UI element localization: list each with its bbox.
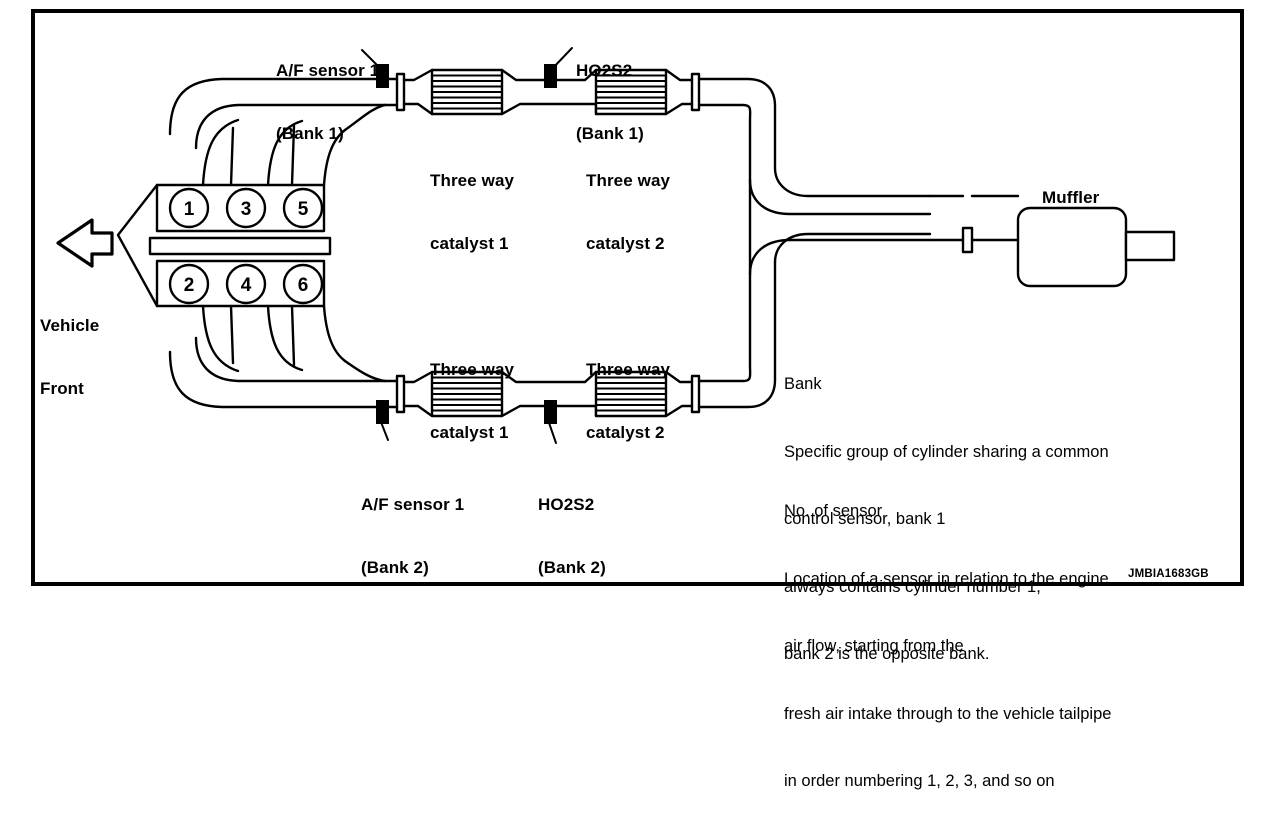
note-sensor-line4: in order numbering 1, 2, 3, and so on: [784, 770, 1111, 793]
bank1-mid-pipe-top: [502, 70, 585, 80]
af-sensor-1-bank1-line1: A/F sensor 1: [276, 60, 379, 81]
bank2-cat1-inlet-cone-upper: [404, 372, 432, 382]
vehicle-front-line1: Vehicle: [40, 315, 99, 336]
bank1-cat1-inlet-cone-lower: [404, 104, 432, 114]
ho2s2-bank1-icon[interactable]: [544, 64, 557, 88]
bank2-flange-1: [397, 376, 404, 412]
cylinder-label-1: 1: [184, 199, 195, 220]
engine-block-center: [150, 238, 330, 254]
merge-lower-inner: [750, 240, 930, 274]
ho2s2-bank1-line1: HO2S2: [576, 60, 644, 81]
cylinder-label-6: 6: [298, 275, 309, 296]
bank1-catalyst-2-label: Three way catalyst 2: [586, 128, 670, 296]
muffler-label: Muffler: [1042, 187, 1099, 208]
note-bank-heading: Bank: [784, 373, 1109, 396]
bank1-cat2-outlet-cone-lower: [666, 104, 692, 114]
manifold-runner-6: [324, 306, 345, 361]
merge-upper-outer: [775, 168, 930, 196]
note-sensor-heading: No. of sensor: [784, 500, 1111, 523]
bank1-catalyst-2-line2: catalyst 2: [586, 233, 670, 254]
diagram-canvas: 1 3 5 2 4 6 Vehicle Front A/F sensor 1 (…: [0, 0, 1280, 600]
tailpipe: [1126, 232, 1174, 260]
ho2s2-bank2-label: HO2S2 (Bank 2): [538, 452, 606, 620]
bank1-downpipe-outer: [699, 79, 775, 168]
note-sensor-line1: Location of a sensor in relation to the …: [784, 568, 1111, 591]
manifold-runner-4b: [292, 306, 294, 365]
merge-lower-outer: [775, 234, 930, 262]
bank2-pipe-bottom-rail: [170, 352, 387, 407]
af-sensor-1-bank1-line2: (Bank 1): [276, 123, 379, 144]
center-flange: [963, 228, 972, 252]
watermark: JMBIA1683GB: [1128, 568, 1209, 580]
bank1-catalyst-1-line2: catalyst 1: [430, 233, 514, 254]
bank2-catalyst-2-line1: Three way: [586, 359, 670, 380]
bank1-cat1-inlet-cone: [404, 70, 432, 80]
cylinder-label-4: 4: [241, 275, 252, 296]
af-sensor-1-bank2-label: A/F sensor 1 (Bank 2): [361, 452, 464, 620]
note-sensor-line2: air flow, starting from the: [784, 635, 1111, 658]
bank1-catalyst-1-label: Three way catalyst 1: [430, 128, 514, 296]
bank1-catalyst-1-hatch: [432, 76, 502, 109]
cylinder-label-2: 2: [184, 275, 195, 296]
bank2-collector-curve: [345, 361, 385, 381]
vehicle-front-label: Vehicle Front: [40, 273, 99, 441]
bank2-pipe-top-rail: [196, 338, 385, 381]
af-sensor-1-bank2-line1: A/F sensor 1: [361, 494, 464, 515]
bank2-catalyst-2-line2: catalyst 2: [586, 422, 670, 443]
af-sensor-1-bank1-label: A/F sensor 1 (Bank 1): [276, 18, 379, 186]
cylinder-label-5: 5: [298, 199, 309, 220]
af-sensor-1-bank2-line2: (Bank 2): [361, 557, 464, 578]
bank1-flange-1: [397, 74, 404, 110]
vehicle-front-line2: Front: [40, 378, 99, 399]
note-sensor-number: No. of sensor Location of a sensor in re…: [784, 455, 1111, 838]
vehicle-front-arrow-icon: [58, 220, 112, 266]
af-sensor-1-bank2-icon[interactable]: [376, 400, 389, 424]
bank1-cat2-outlet-cone: [666, 70, 692, 80]
bank1-catalyst-1-line1: Three way: [430, 170, 514, 191]
bank2-catalyst-1-line2: catalyst 1: [430, 422, 514, 443]
cylinder-label-3: 3: [241, 199, 252, 220]
manifold-runner-2b: [231, 306, 233, 363]
note-sensor-line3: fresh air intake through to the vehicle …: [784, 703, 1111, 726]
ho2s2-bank2-line2: (Bank 2): [538, 557, 606, 578]
bank2-downpipe-inner: [699, 274, 750, 381]
bank2-cat1-inlet-cone: [404, 406, 432, 416]
bank1-catalyst-2-line1: Three way: [586, 170, 670, 191]
manifold-runner-4: [268, 306, 302, 370]
bank2-downpipe-outer: [699, 262, 775, 407]
bank2-catalyst-1-line1: Three way: [430, 359, 514, 380]
bank2-mid-pipe-top: [502, 372, 585, 382]
ho2s2-bank2-line1: HO2S2: [538, 494, 606, 515]
manifold-runner-1b: [231, 128, 233, 185]
bank1-downpipe-inner: [699, 105, 750, 180]
ho2s2-bank2-icon[interactable]: [544, 400, 557, 424]
muffler-body: [1018, 208, 1126, 286]
